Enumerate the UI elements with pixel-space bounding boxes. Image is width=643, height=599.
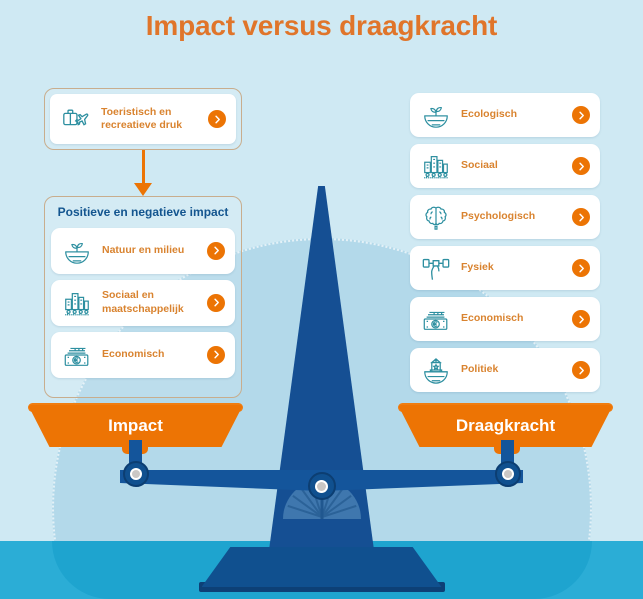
card-label: Natuur en milieu (95, 244, 207, 257)
globe-sprout-icon (418, 97, 454, 133)
left-pan-label: Impact (108, 416, 163, 436)
right-pan-label: Draagkracht (456, 416, 555, 436)
suitcase-plane-icon (58, 101, 94, 137)
left-pivot (123, 461, 149, 487)
chevron-right-icon[interactable] (207, 346, 225, 364)
globe-sprout-icon (59, 233, 95, 269)
chevron-right-icon[interactable] (572, 259, 590, 277)
positieve-negatieve-impact-panel: Positieve en negatieve impact Natuur en … (44, 196, 242, 398)
draagkracht-card-stack: Ecologisch Sociaal (410, 93, 600, 399)
arm-dumbbell-icon (418, 250, 454, 286)
card-fysiek[interactable]: Fysiek (410, 246, 600, 290)
card-label: Sociaal (454, 159, 572, 172)
center-hub (308, 472, 336, 500)
card-politiek[interactable]: Politiek (410, 348, 600, 392)
card-label: Sociaal en maatschappelijk (95, 289, 207, 315)
card-natuur-en-milieu[interactable]: Natuur en milieu (51, 228, 235, 274)
chevron-right-icon[interactable] (572, 208, 590, 226)
brain-icon (418, 199, 454, 235)
chevron-right-icon[interactable] (572, 106, 590, 124)
scale-base (202, 547, 442, 587)
card-ecologisch[interactable]: Ecologisch (410, 93, 600, 137)
city-people-icon (59, 285, 95, 321)
card-sociaal-en-maatschappelijk[interactable]: Sociaal en maatschappelijk (51, 280, 235, 326)
chevron-right-icon[interactable] (208, 110, 226, 128)
card-psychologisch[interactable]: Psychologisch (410, 195, 600, 239)
card-toeristisch-recreatieve-druk[interactable]: Toeristisch en recreatieve druk (50, 94, 236, 144)
right-pivot (495, 461, 521, 487)
down-arrow-icon (134, 183, 152, 196)
card-label: Ecologisch (454, 108, 572, 121)
card-economisch-right[interactable]: Economisch (410, 297, 600, 341)
money-euro-icon (59, 337, 95, 373)
chevron-right-icon[interactable] (572, 310, 590, 328)
card-label: Economisch (454, 312, 572, 325)
chevron-right-icon[interactable] (207, 294, 225, 312)
chevron-right-icon[interactable] (572, 157, 590, 175)
card-label: Psychologisch (454, 210, 572, 223)
card-label: Toeristisch en recreatieve druk (94, 106, 208, 132)
money-euro-icon (418, 301, 454, 337)
card-label: Fysiek (454, 261, 572, 274)
card-economisch-left[interactable]: Economisch (51, 332, 235, 378)
card-sociaal[interactable]: Sociaal (410, 144, 600, 188)
infographic-canvas: Impact versus draagkracht Toeristisch en… (0, 0, 643, 599)
card-label: Politiek (454, 363, 572, 376)
toeristische-druk-panel: Toeristisch en recreatieve druk (44, 88, 242, 150)
globe-government-icon (418, 352, 454, 388)
panel-heading: Positieve en negatieve impact (51, 205, 235, 221)
chevron-right-icon[interactable] (572, 361, 590, 379)
page-title: Impact versus draagkracht (0, 10, 643, 42)
city-people-icon (418, 148, 454, 184)
chevron-right-icon[interactable] (207, 242, 225, 260)
card-label: Economisch (95, 348, 207, 361)
